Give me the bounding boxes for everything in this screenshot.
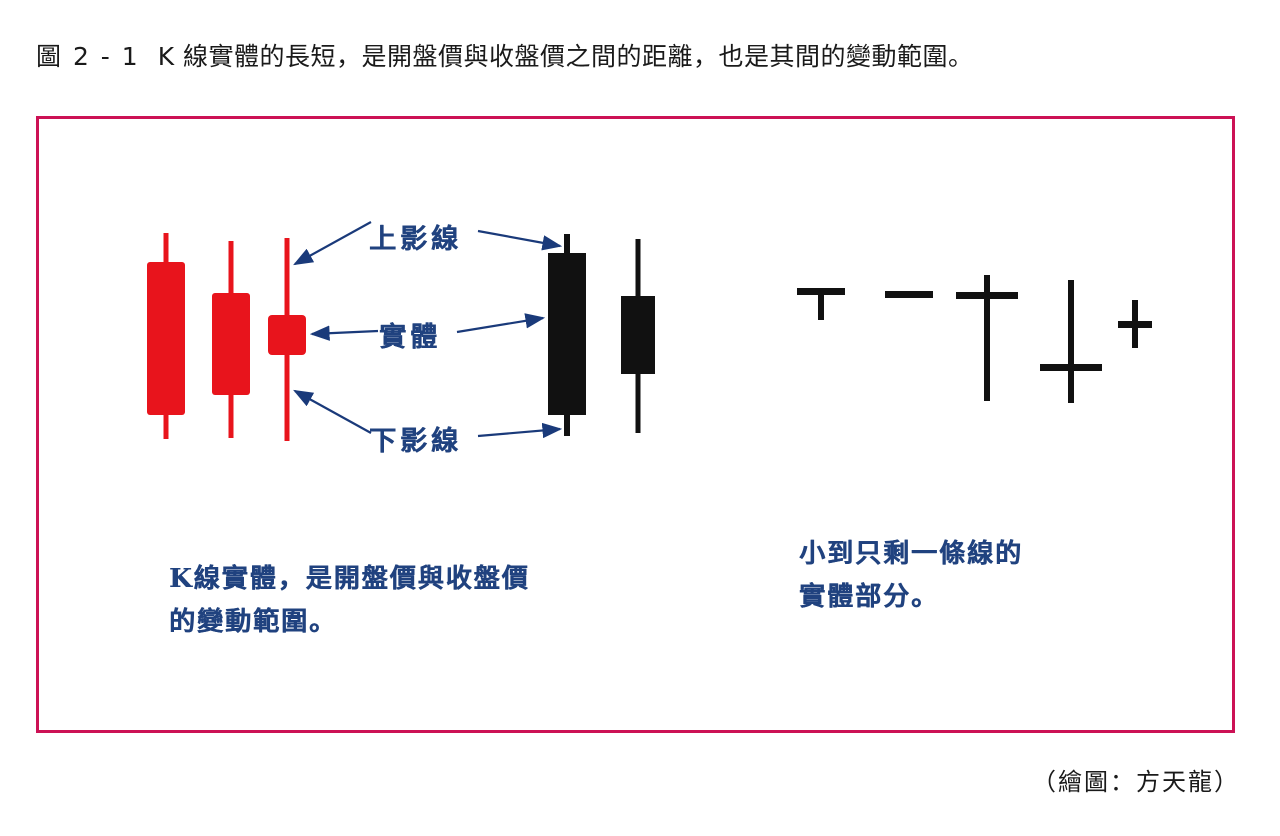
figure-caption-text: K 線實體的長短，是開盤價與收盤價之間的距離，也是其間的變動範圍。 xyxy=(158,42,974,71)
candle-long-body-bearish xyxy=(548,234,586,436)
arrow-upper-shadow-right xyxy=(478,231,560,246)
doji-small-plus xyxy=(1118,300,1152,348)
doji-long-lower-tail xyxy=(956,275,1018,401)
attribution: （繪圖：方天龍） xyxy=(1032,762,1240,797)
arrow-real-body-right xyxy=(457,318,543,332)
bearish-candle-group xyxy=(548,234,655,436)
callout-label-upper-shadow: 上影線 xyxy=(369,217,462,256)
callout-label-real-body: 實體 xyxy=(379,315,441,354)
arrow-lower-shadow-right xyxy=(478,429,560,436)
candle-long-body-bullish xyxy=(147,233,185,439)
candle-medium-body-bullish xyxy=(212,241,250,438)
doji-low-body xyxy=(1040,280,1102,403)
figure-number: 圖 2 - 1 xyxy=(36,42,140,71)
caption-right-line-1: 小到只剩一條線的 xyxy=(799,534,1023,574)
candlestick-diagram xyxy=(39,119,1238,736)
bullish-candle-group xyxy=(147,233,306,441)
candle-short-body-bullish xyxy=(268,238,306,441)
arrow-upper-shadow-left xyxy=(295,222,371,264)
figure-caption: 圖 2 - 1K 線實體的長短，是開盤價與收盤價之間的距離，也是其間的變動範圍。 xyxy=(36,40,1246,74)
diagram-frame: 上影線 實體 下影線 K線實體，是開盤價與收盤價 的變動範圍。 小到只剩一條線的… xyxy=(36,116,1235,733)
doji-candle-group xyxy=(797,275,1152,403)
arrow-lower-shadow-left xyxy=(295,391,371,433)
caption-left-line-1: K線實體，是開盤價與收盤價 xyxy=(169,559,530,599)
caption-right-line-2: 實體部分。 xyxy=(799,577,939,617)
caption-left-line-2: 的變動範圍。 xyxy=(169,602,337,642)
doji-dash xyxy=(885,291,933,298)
callout-label-lower-shadow: 下影線 xyxy=(369,419,462,458)
doji-t-shape xyxy=(797,288,845,320)
arrow-real-body-left xyxy=(312,331,378,334)
candle-medium-body-bearish xyxy=(621,239,655,433)
